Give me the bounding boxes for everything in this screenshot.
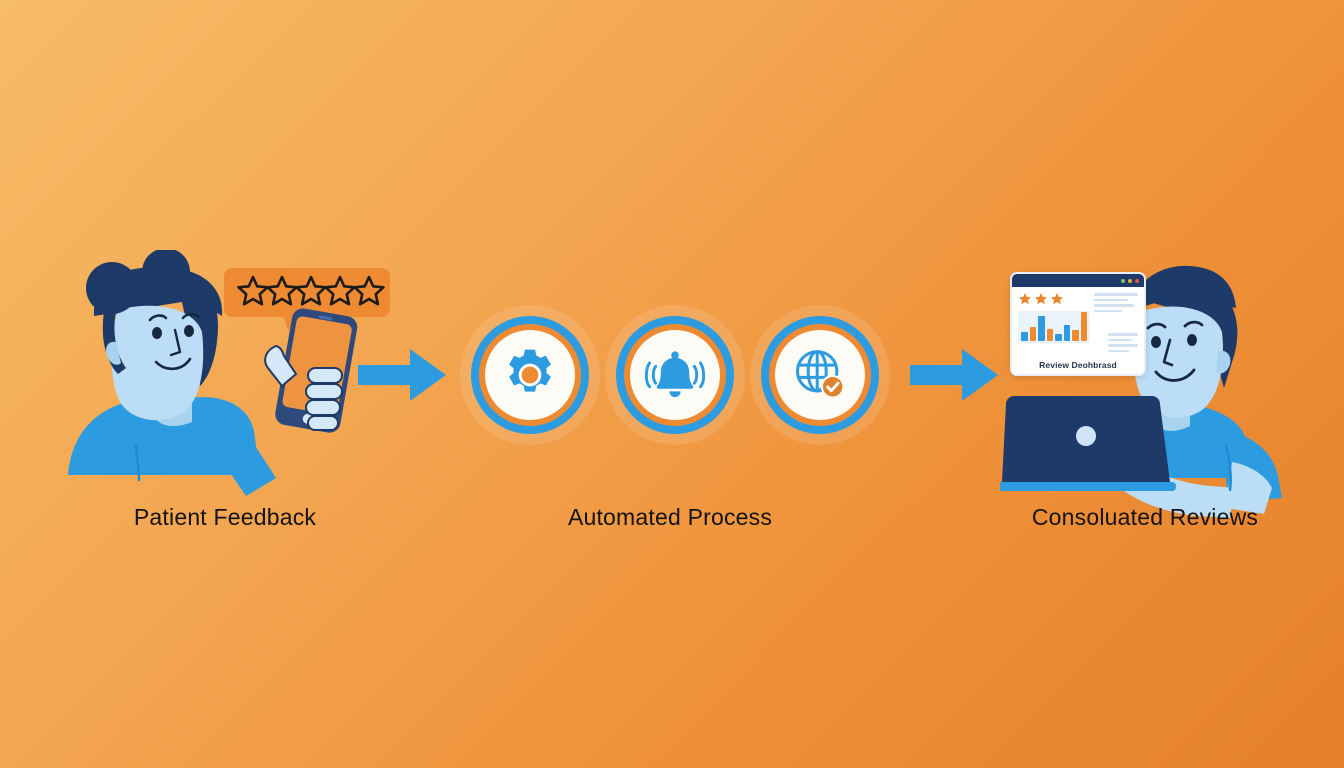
badge-notification-bell[interactable] — [605, 305, 745, 445]
star-filled-icon — [1034, 292, 1048, 306]
badge-automation-gear[interactable] — [460, 305, 600, 445]
window-dot-red — [1135, 279, 1139, 283]
step-label-automated-process: Automated Process — [440, 504, 900, 531]
badge-publish-globe[interactable] — [750, 305, 890, 445]
eye-right — [1187, 334, 1197, 346]
step-patient-feedback: Patient Feedback — [60, 250, 390, 550]
dashboard-body — [1012, 287, 1144, 343]
arrow-2-icon — [910, 349, 998, 401]
globe-check-icon — [775, 330, 865, 420]
window-dot-green — [1121, 279, 1125, 283]
eye-right — [184, 325, 194, 337]
window-dot-amber — [1128, 279, 1132, 283]
bell-icon — [630, 330, 720, 420]
dashboard-caption: Review Deohbrasd — [1012, 360, 1144, 370]
dashboard-side-lines — [1108, 333, 1138, 355]
gear-icon — [485, 330, 575, 420]
laptop-logo-icon — [1076, 426, 1096, 446]
star-filled-icon — [1018, 292, 1032, 306]
check-badge-icon — [821, 375, 845, 399]
step-label-consoluated-reviews: Consoluated Reviews — [1000, 504, 1290, 531]
step-consoluated-reviews: Review Deohbrasd Consoluated Reviews — [1000, 250, 1290, 550]
review-dashboard-window[interactable]: Review Deohbrasd — [1010, 272, 1146, 376]
step-label-patient-feedback: Patient Feedback — [60, 504, 390, 531]
infographic-canvas: Patient Feedback — [0, 0, 1344, 768]
eye-left — [1151, 336, 1161, 348]
star-filled-icon — [1050, 292, 1064, 306]
step-automated-process: Automated Process — [440, 250, 900, 550]
window-titlebar — [1012, 274, 1144, 287]
eye-left — [152, 327, 162, 339]
laptop[interactable] — [1000, 396, 1176, 491]
arrow-1-icon — [358, 349, 446, 401]
dashboard-text-lines — [1094, 293, 1138, 315]
dashboard-bar-chart — [1018, 311, 1090, 343]
